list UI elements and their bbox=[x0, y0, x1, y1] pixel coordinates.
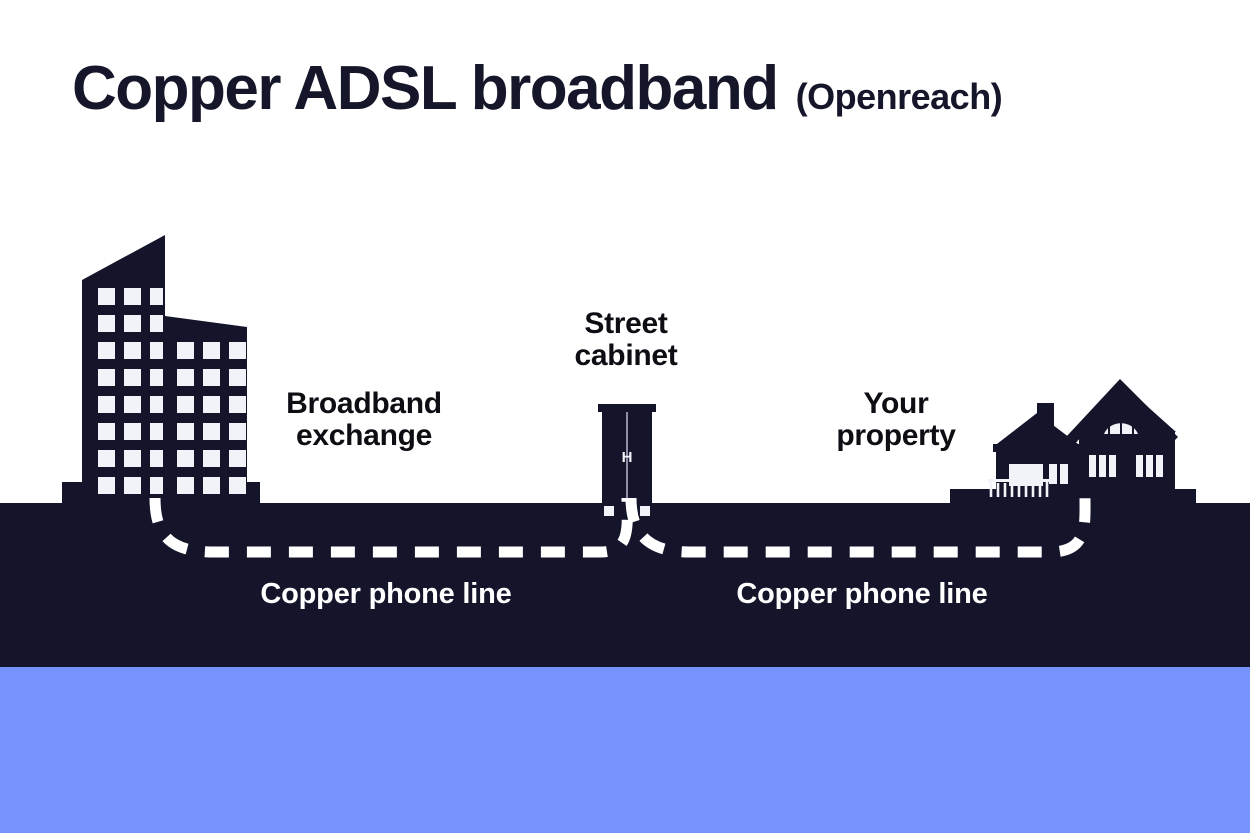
label-street-cabinet-line1: Street bbox=[530, 308, 722, 340]
label-broadband-exchange-line1: Broadband bbox=[258, 388, 470, 420]
cabinet-handle-glyph: H bbox=[622, 449, 633, 466]
label-copper-phone-line-left: Copper phone line bbox=[236, 578, 536, 611]
label-street-cabinet-line2: cabinet bbox=[530, 340, 722, 372]
label-your-property-line1: Your bbox=[800, 388, 992, 420]
label-copper-phone-line-right: Copper phone line bbox=[712, 578, 1012, 611]
office-building-icon bbox=[62, 235, 260, 506]
copper-line-left-path bbox=[155, 498, 627, 552]
speed-summary-row: Average speed: 10Mbps bbox=[0, 667, 1250, 833]
label-broadband-exchange: Broadband exchange bbox=[258, 388, 470, 453]
label-street-cabinet: Street cabinet bbox=[530, 308, 722, 373]
label-your-property: Your property bbox=[800, 388, 992, 453]
label-your-property-line2: property bbox=[800, 420, 992, 452]
label-broadband-exchange-line2: exchange bbox=[258, 420, 470, 452]
infographic-canvas: Copper ADSL broadband (Openreach) bbox=[0, 0, 1250, 833]
